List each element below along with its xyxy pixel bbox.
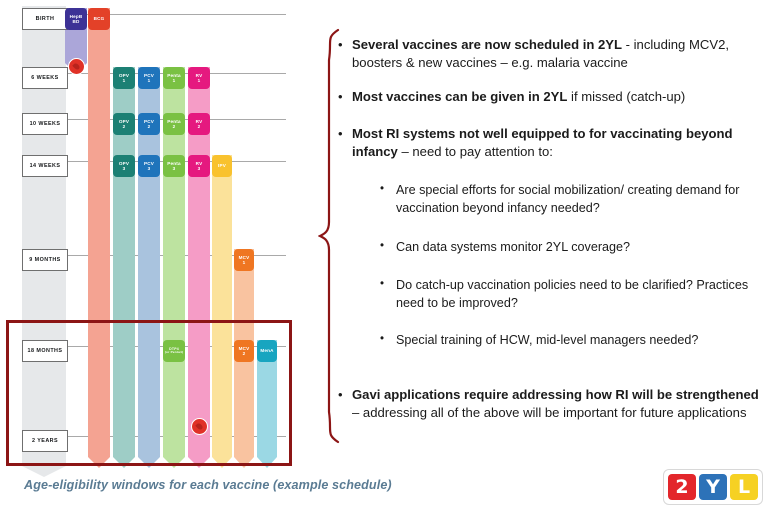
chip-rv-3-dose: 3	[198, 166, 201, 171]
bullet-several-vaccines-run-0: Several vaccines are now scheduled in 2Y…	[352, 37, 622, 52]
bullet-ri-systems: •Most RI systems not well equipped to fo…	[338, 125, 764, 160]
bullet-several-vaccines-bullet-icon: •	[338, 36, 352, 71]
chip-rv-3[interactable]: RV3	[188, 155, 210, 177]
bullet-gavi-applications-text: Gavi applications require addressing how…	[352, 386, 764, 421]
bullet-gavi-applications: •Gavi applications require addressing ho…	[338, 386, 764, 421]
age-label-6-weeks: 6 WEEKS	[22, 67, 68, 89]
chip-ipv[interactable]: IPV	[212, 155, 232, 177]
bullet-several-vaccines-text: Several vaccines are now scheduled in 2Y…	[352, 36, 764, 71]
chip-ipv-text: IPV	[218, 163, 226, 168]
chip-penta-1-dose: 1	[173, 78, 176, 83]
bullet-data-systems-bullet-icon: •	[380, 238, 396, 256]
chip-penta-3-dose: 3	[173, 166, 176, 171]
chip-opv-3-dose: 3	[123, 166, 126, 171]
bullet-ri-systems-bullet-icon: •	[338, 125, 352, 160]
age-axis-column-tip	[22, 466, 66, 477]
bullet-special-training-text: Special training of HCW, mid-level manag…	[396, 331, 698, 349]
chip-rv-2[interactable]: RV2	[188, 113, 210, 135]
slide-canvas: BIRTH6 WEEKS10 WEEKS14 WEEKS9 MONTHS18 M…	[0, 0, 768, 509]
key-points-panel: •Several vaccines are now scheduled in 2…	[318, 26, 768, 456]
chip-rv-1-dose: 1	[198, 78, 201, 83]
logo-2yl: 2YL	[664, 470, 762, 504]
chip-pcv-2[interactable]: PCV2	[138, 113, 160, 135]
bullet-most-vaccines-catchup-bullet-icon: •	[338, 88, 352, 106]
immunization-schedule-chart: BIRTH6 WEEKS10 WEEKS14 WEEKS9 MONTHS18 M…	[0, 0, 310, 470]
bullet-gavi-applications-run-1: – addressing all of the above will be im…	[352, 405, 747, 420]
bullet-gavi-applications-bullet-icon: •	[338, 386, 352, 421]
bullet-special-training-bullet-icon: •	[380, 331, 396, 349]
chip-hepb-bd[interactable]: HepBBD	[65, 8, 87, 30]
chip-bcg-text: BCG	[94, 16, 105, 21]
bullet-social-mobilization-run-0: Are special efforts for social mobilizat…	[396, 183, 739, 215]
age-label-9-months: 9 MONTHS	[22, 249, 68, 271]
chip-mcv-1-dose: 1	[243, 260, 246, 265]
age-label-14-weeks: 14 WEEKS	[22, 155, 68, 177]
bullet-social-mobilization-bullet-icon: •	[380, 181, 396, 217]
bullet-most-vaccines-catchup-text: Most vaccines can be given in 2YL if mis…	[352, 88, 685, 106]
chip-opv-3[interactable]: OPV3	[113, 155, 135, 177]
chip-rv-1[interactable]: RV1	[188, 67, 210, 89]
chip-pcv-1[interactable]: PCV1	[138, 67, 160, 89]
chip-pcv-3-dose: 3	[148, 166, 151, 171]
bullet-several-vaccines: •Several vaccines are now scheduled in 2…	[338, 36, 764, 71]
bullet-special-training: •Special training of HCW, mid-level mana…	[380, 331, 752, 349]
highlight-box-2yl-window	[6, 320, 292, 466]
chip-hepb-bd-dose: BD	[72, 19, 79, 24]
bullet-most-vaccines-catchup-run-1: if missed (catch-up)	[567, 89, 685, 104]
bullet-catchup-policies: •Do catch-up vaccination policies need t…	[380, 276, 752, 312]
chip-opv-2[interactable]: OPV2	[113, 113, 135, 135]
bullet-social-mobilization: •Are special efforts for social mobiliza…	[380, 181, 752, 217]
chip-penta-2-dose: 2	[173, 124, 176, 129]
drop-icon-birth-dose-glyph	[72, 62, 80, 70]
logo-tile-2: 2	[668, 474, 696, 500]
age-label-10-weeks: 10 WEEKS	[22, 113, 68, 135]
chip-bcg[interactable]: BCG	[88, 8, 110, 30]
chip-pcv-2-dose: 2	[148, 124, 151, 129]
chip-penta-3[interactable]: Penta3	[163, 155, 185, 177]
chip-opv-1[interactable]: OPV1	[113, 67, 135, 89]
bullet-most-vaccines-catchup: •Most vaccines can be given in 2YL if mi…	[338, 88, 764, 106]
chip-pcv-1-dose: 1	[148, 78, 151, 83]
bullet-ri-systems-text: Most RI systems not well equipped to for…	[352, 125, 764, 160]
chip-pcv-3[interactable]: PCV3	[138, 155, 160, 177]
chip-opv-1-dose: 1	[123, 78, 126, 83]
bullet-social-mobilization-text: Are special efforts for social mobilizat…	[396, 181, 752, 217]
chip-rv-2-dose: 2	[198, 124, 201, 129]
chip-mcv-1[interactable]: MCV1	[234, 249, 254, 271]
bullet-most-vaccines-catchup-run-0: Most vaccines can be given in 2YL	[352, 89, 567, 104]
chart-caption: Age-eligibility windows for each vaccine…	[24, 478, 454, 492]
chip-penta-2[interactable]: Penta2	[163, 113, 185, 135]
bullet-data-systems-text: Can data systems monitor 2YL coverage?	[396, 238, 630, 256]
bullet-special-training-run-0: Special training of HCW, mid-level manag…	[396, 333, 698, 347]
logo-tile-l: L	[730, 474, 758, 500]
bullet-data-systems-run-0: Can data systems monitor 2YL coverage?	[396, 240, 630, 254]
bullet-catchup-policies-text: Do catch-up vaccination policies need to…	[396, 276, 752, 312]
bullet-ri-systems-run-1: – need to pay attention to:	[398, 144, 553, 159]
drop-icon-birth-dose	[68, 58, 85, 75]
bullet-gavi-applications-run-0: Gavi applications require addressing how…	[352, 387, 759, 402]
bullet-catchup-policies-run-0: Do catch-up vaccination policies need to…	[396, 278, 748, 310]
bullet-data-systems: •Can data systems monitor 2YL coverage?	[380, 238, 752, 256]
logo-tile-y: Y	[699, 474, 727, 500]
age-label-birth: BIRTH	[22, 8, 68, 30]
bullet-catchup-policies-bullet-icon: •	[380, 276, 396, 312]
chip-penta-1[interactable]: Penta1	[163, 67, 185, 89]
chip-opv-2-dose: 2	[123, 124, 126, 129]
